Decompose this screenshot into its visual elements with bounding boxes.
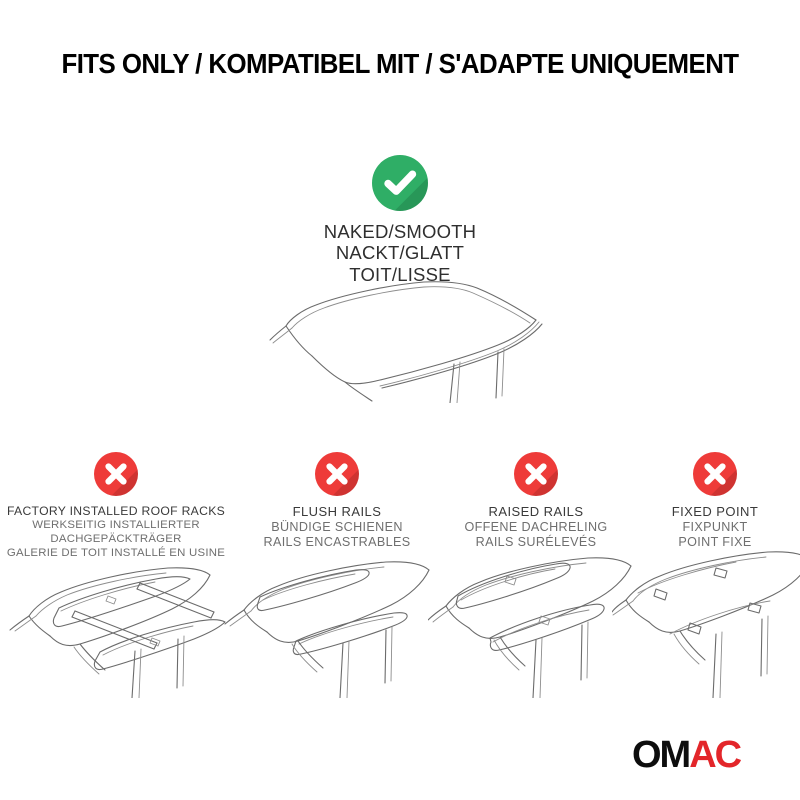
incompatible-badge bbox=[514, 452, 558, 496]
incompatible-column-fixed-point: FIXED POINT FIXPUNKT POINT FIXE bbox=[630, 452, 800, 561]
label-de: OFFENE DACHRELING bbox=[442, 520, 630, 535]
incompatible-badge bbox=[693, 452, 737, 496]
x-mark-glyph bbox=[514, 452, 558, 496]
check-circle-icon bbox=[372, 155, 428, 211]
header: FITS ONLY / KOMPATIBEL MIT / S'ADAPTE UN… bbox=[0, 48, 800, 80]
label-en: RAISED RAILS bbox=[442, 504, 630, 520]
compatible-badge bbox=[372, 155, 428, 211]
label-en: FACTORY INSTALLED ROOF RACKS bbox=[0, 504, 232, 519]
label-en: FIXED POINT bbox=[630, 504, 800, 520]
x-circle-icon bbox=[693, 452, 737, 496]
logo-om-part: OM bbox=[632, 734, 689, 776]
flush-rails-roof-illustration bbox=[222, 548, 452, 698]
incompatible-column-flush-rails: FLUSH RAILS BÜNDIGE SCHIENEN RAILS ENCAS… bbox=[232, 452, 442, 561]
incompatible-labels: RAISED RAILS OFFENE DACHRELING RAILS SUR… bbox=[442, 504, 630, 551]
fixed-point-roof-drawing bbox=[612, 548, 800, 698]
x-circle-icon bbox=[514, 452, 558, 496]
label-de-2: DACHGEPÄCKTRÄGER bbox=[0, 533, 232, 547]
x-mark-glyph bbox=[315, 452, 359, 496]
factory-rack-roof-illustration bbox=[4, 548, 234, 698]
incompatible-badge bbox=[94, 452, 138, 496]
incompatible-labels: FLUSH RAILS BÜNDIGE SCHIENEN RAILS ENCAS… bbox=[232, 504, 442, 551]
x-circle-icon bbox=[94, 452, 138, 496]
incompatible-badge bbox=[315, 452, 359, 496]
logo-ac-part: AC bbox=[689, 734, 740, 776]
label-en: FLUSH RAILS bbox=[232, 504, 442, 520]
x-circle-icon bbox=[315, 452, 359, 496]
smooth-roof-illustration bbox=[268, 278, 558, 403]
fixed-point-roof-illustration bbox=[612, 548, 800, 698]
x-mark-glyph bbox=[94, 452, 138, 496]
label-de: FIXPUNKT bbox=[630, 520, 800, 535]
incompatible-column-raised-rails: RAISED RAILS OFFENE DACHRELING RAILS SUR… bbox=[442, 452, 630, 561]
compatible-section: NAKED/SMOOTH NACKT/GLATT TOIT/LISSE bbox=[0, 155, 800, 285]
omac-logo: OMAC bbox=[632, 736, 764, 774]
compatible-label-de: NACKT/GLATT bbox=[0, 242, 800, 263]
incompatible-column-factory-racks: FACTORY INSTALLED ROOF RACKS WERKSEITIG … bbox=[0, 452, 232, 561]
check-mark-glyph bbox=[372, 155, 428, 211]
flush-rails-roof-drawing bbox=[222, 548, 452, 698]
label-de-1: WERKSEITIG INSTALLIERTER bbox=[0, 519, 232, 533]
smooth-roof-drawing bbox=[268, 278, 558, 403]
logo-wordmark: OMAC bbox=[632, 736, 764, 774]
label-de: BÜNDIGE SCHIENEN bbox=[232, 520, 442, 535]
incompatible-labels: FIXED POINT FIXPUNKT POINT FIXE bbox=[630, 504, 800, 551]
factory-rack-roof-drawing bbox=[4, 548, 234, 698]
compatible-labels: NAKED/SMOOTH NACKT/GLATT TOIT/LISSE bbox=[0, 221, 800, 285]
compatible-label-en: NAKED/SMOOTH bbox=[0, 221, 800, 242]
page-title: FITS ONLY / KOMPATIBEL MIT / S'ADAPTE UN… bbox=[24, 48, 776, 80]
incompatible-sections: FACTORY INSTALLED ROOF RACKS WERKSEITIG … bbox=[0, 452, 800, 561]
roof-illustrations-row bbox=[0, 548, 800, 698]
x-mark-glyph bbox=[693, 452, 737, 496]
